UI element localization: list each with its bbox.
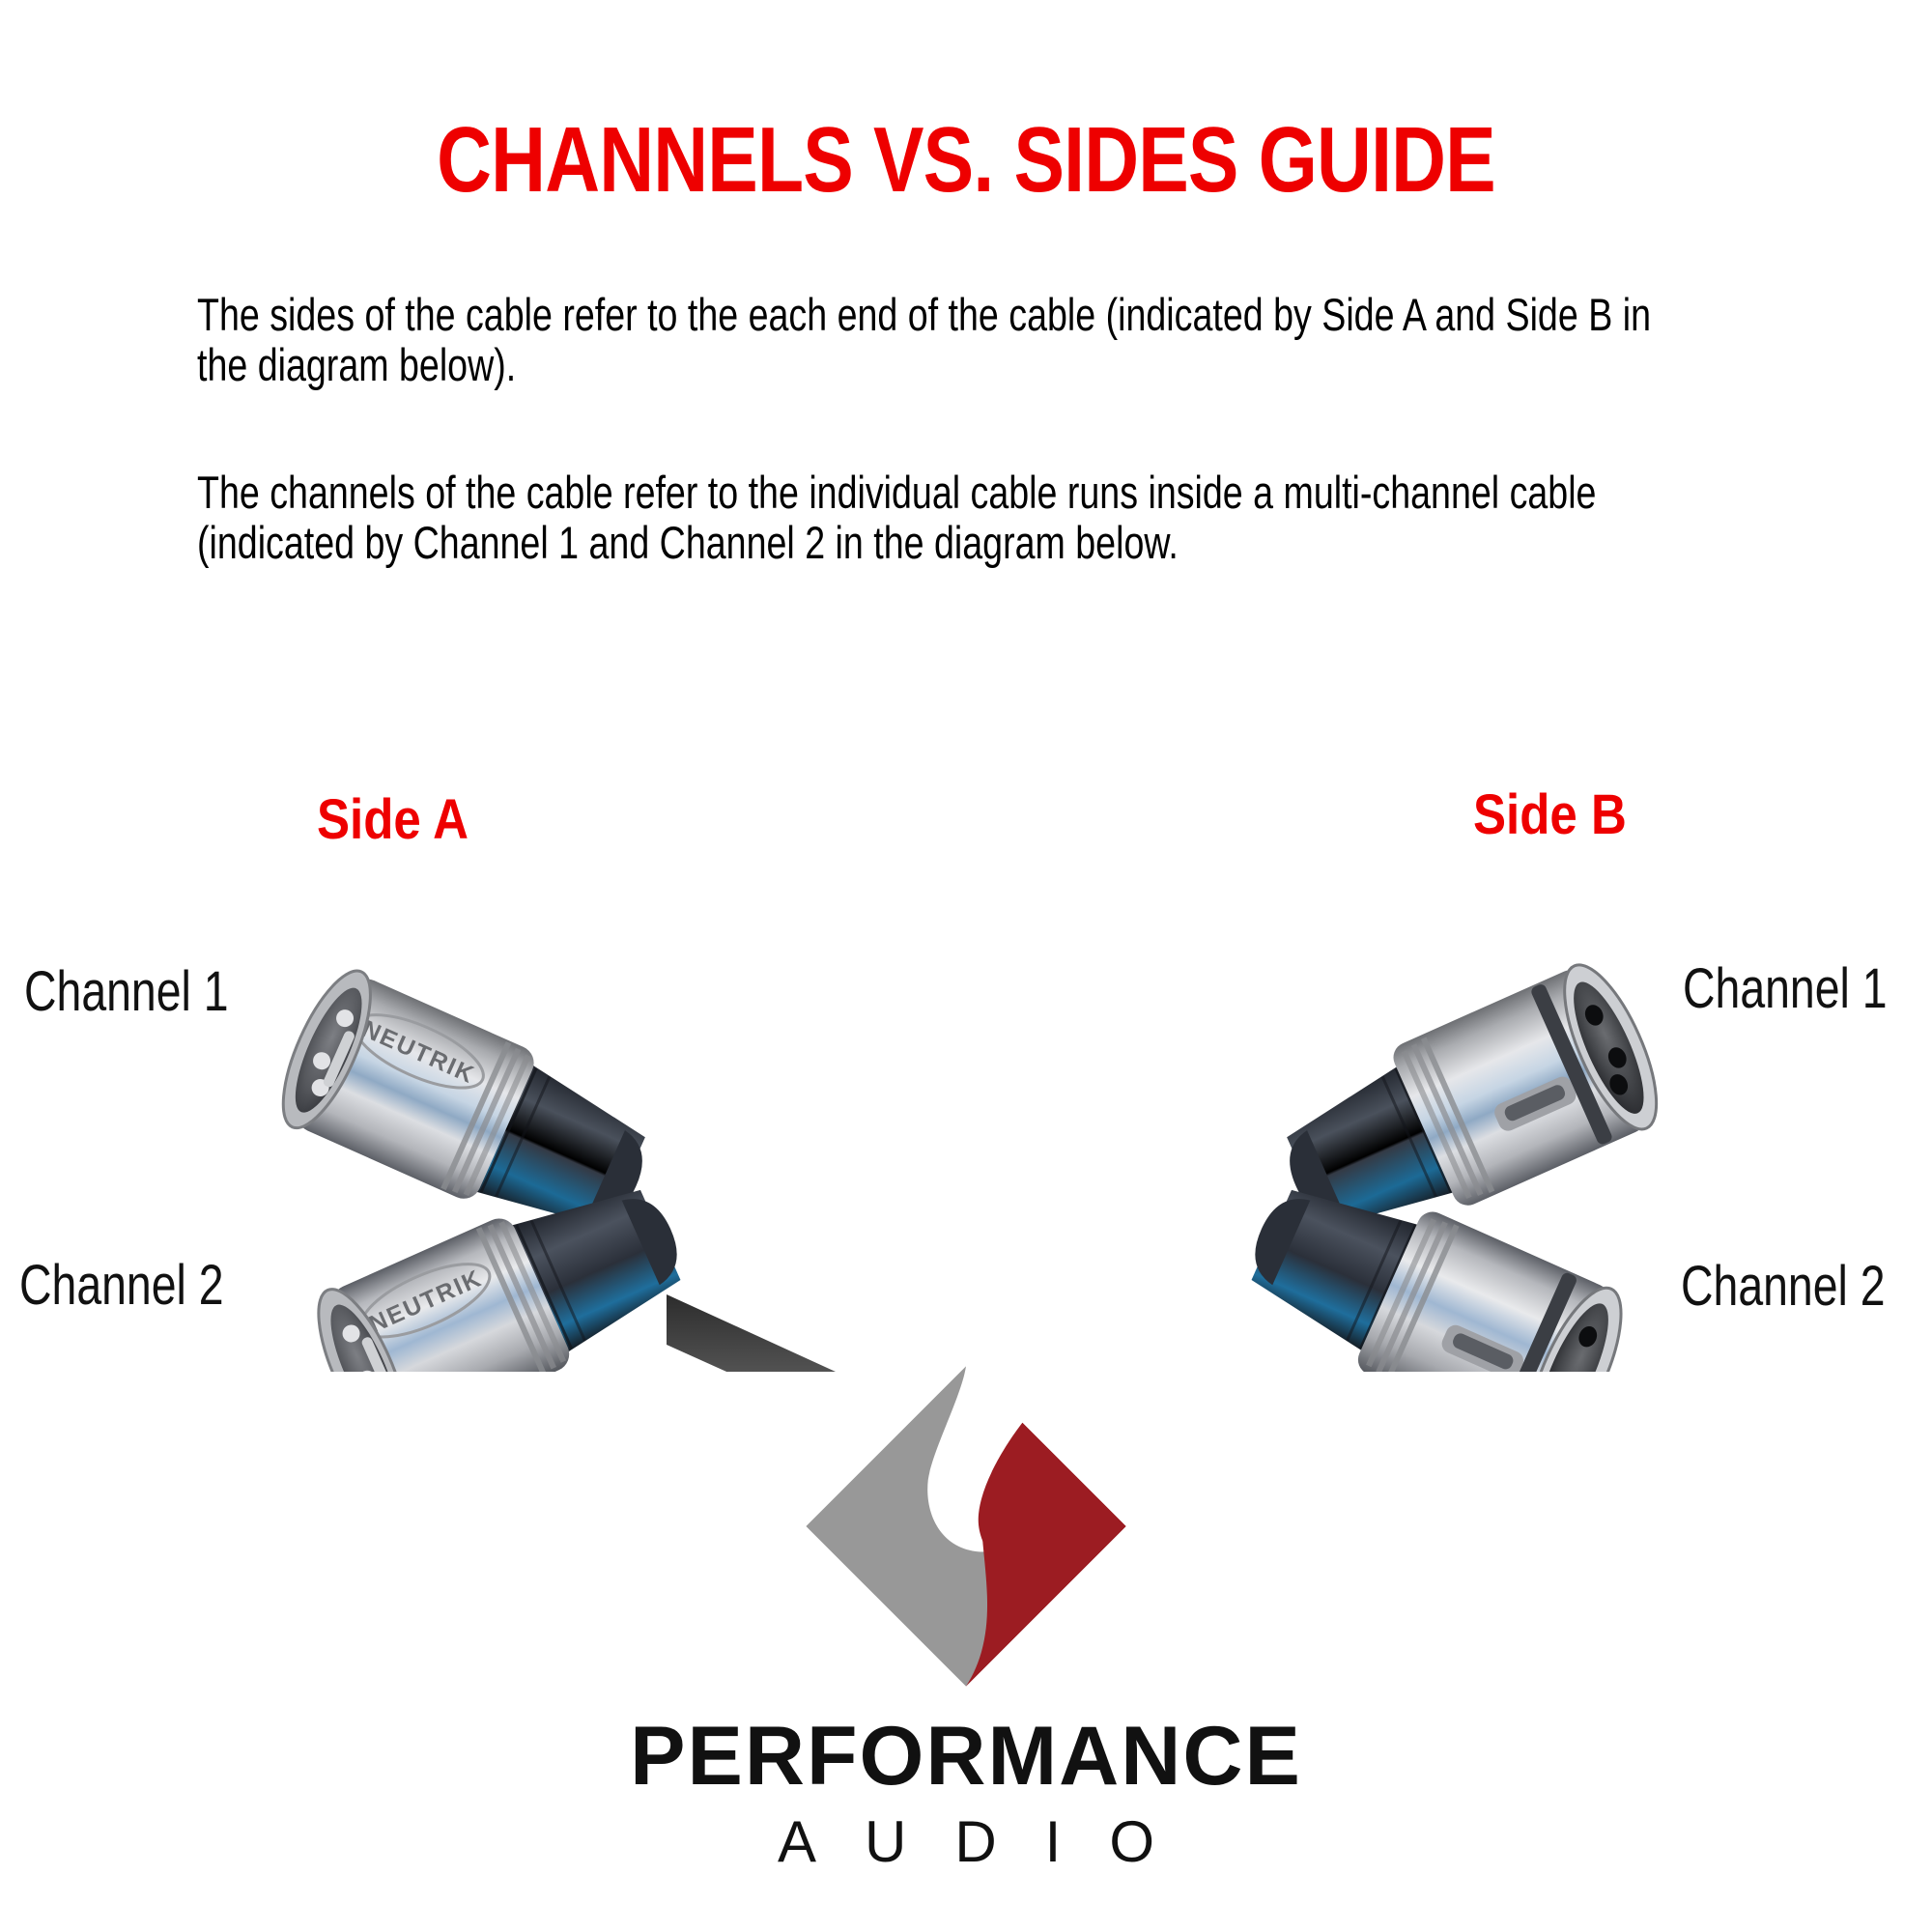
side-a-label: Side A	[317, 787, 469, 852]
brand-name-primary: PERFORMANCE	[0, 1715, 1932, 1798]
intro-text-block: The sides of the cable refer to the each…	[197, 290, 1704, 568]
side-b-label: Side B	[1473, 782, 1627, 847]
intro-paragraph-sides: The sides of the cable refer to the each…	[197, 290, 1704, 390]
intro-paragraph-channels: The channels of the cable refer to the i…	[197, 468, 1704, 568]
brand-name-secondary: AUDIO	[0, 1813, 1932, 1871]
brand-logo-block: PERFORMANCE AUDIO	[0, 1348, 1932, 1871]
performance-audio-diamond-icon	[787, 1348, 1145, 1705]
xlr-cable-diagram: NEUTRIK	[0, 869, 1932, 1372]
guide-page: CHANNELS VS. SIDES GUIDE The sides of th…	[0, 0, 1932, 1932]
page-title: CHANNELS VS. SIDES GUIDE	[174, 114, 1758, 207]
